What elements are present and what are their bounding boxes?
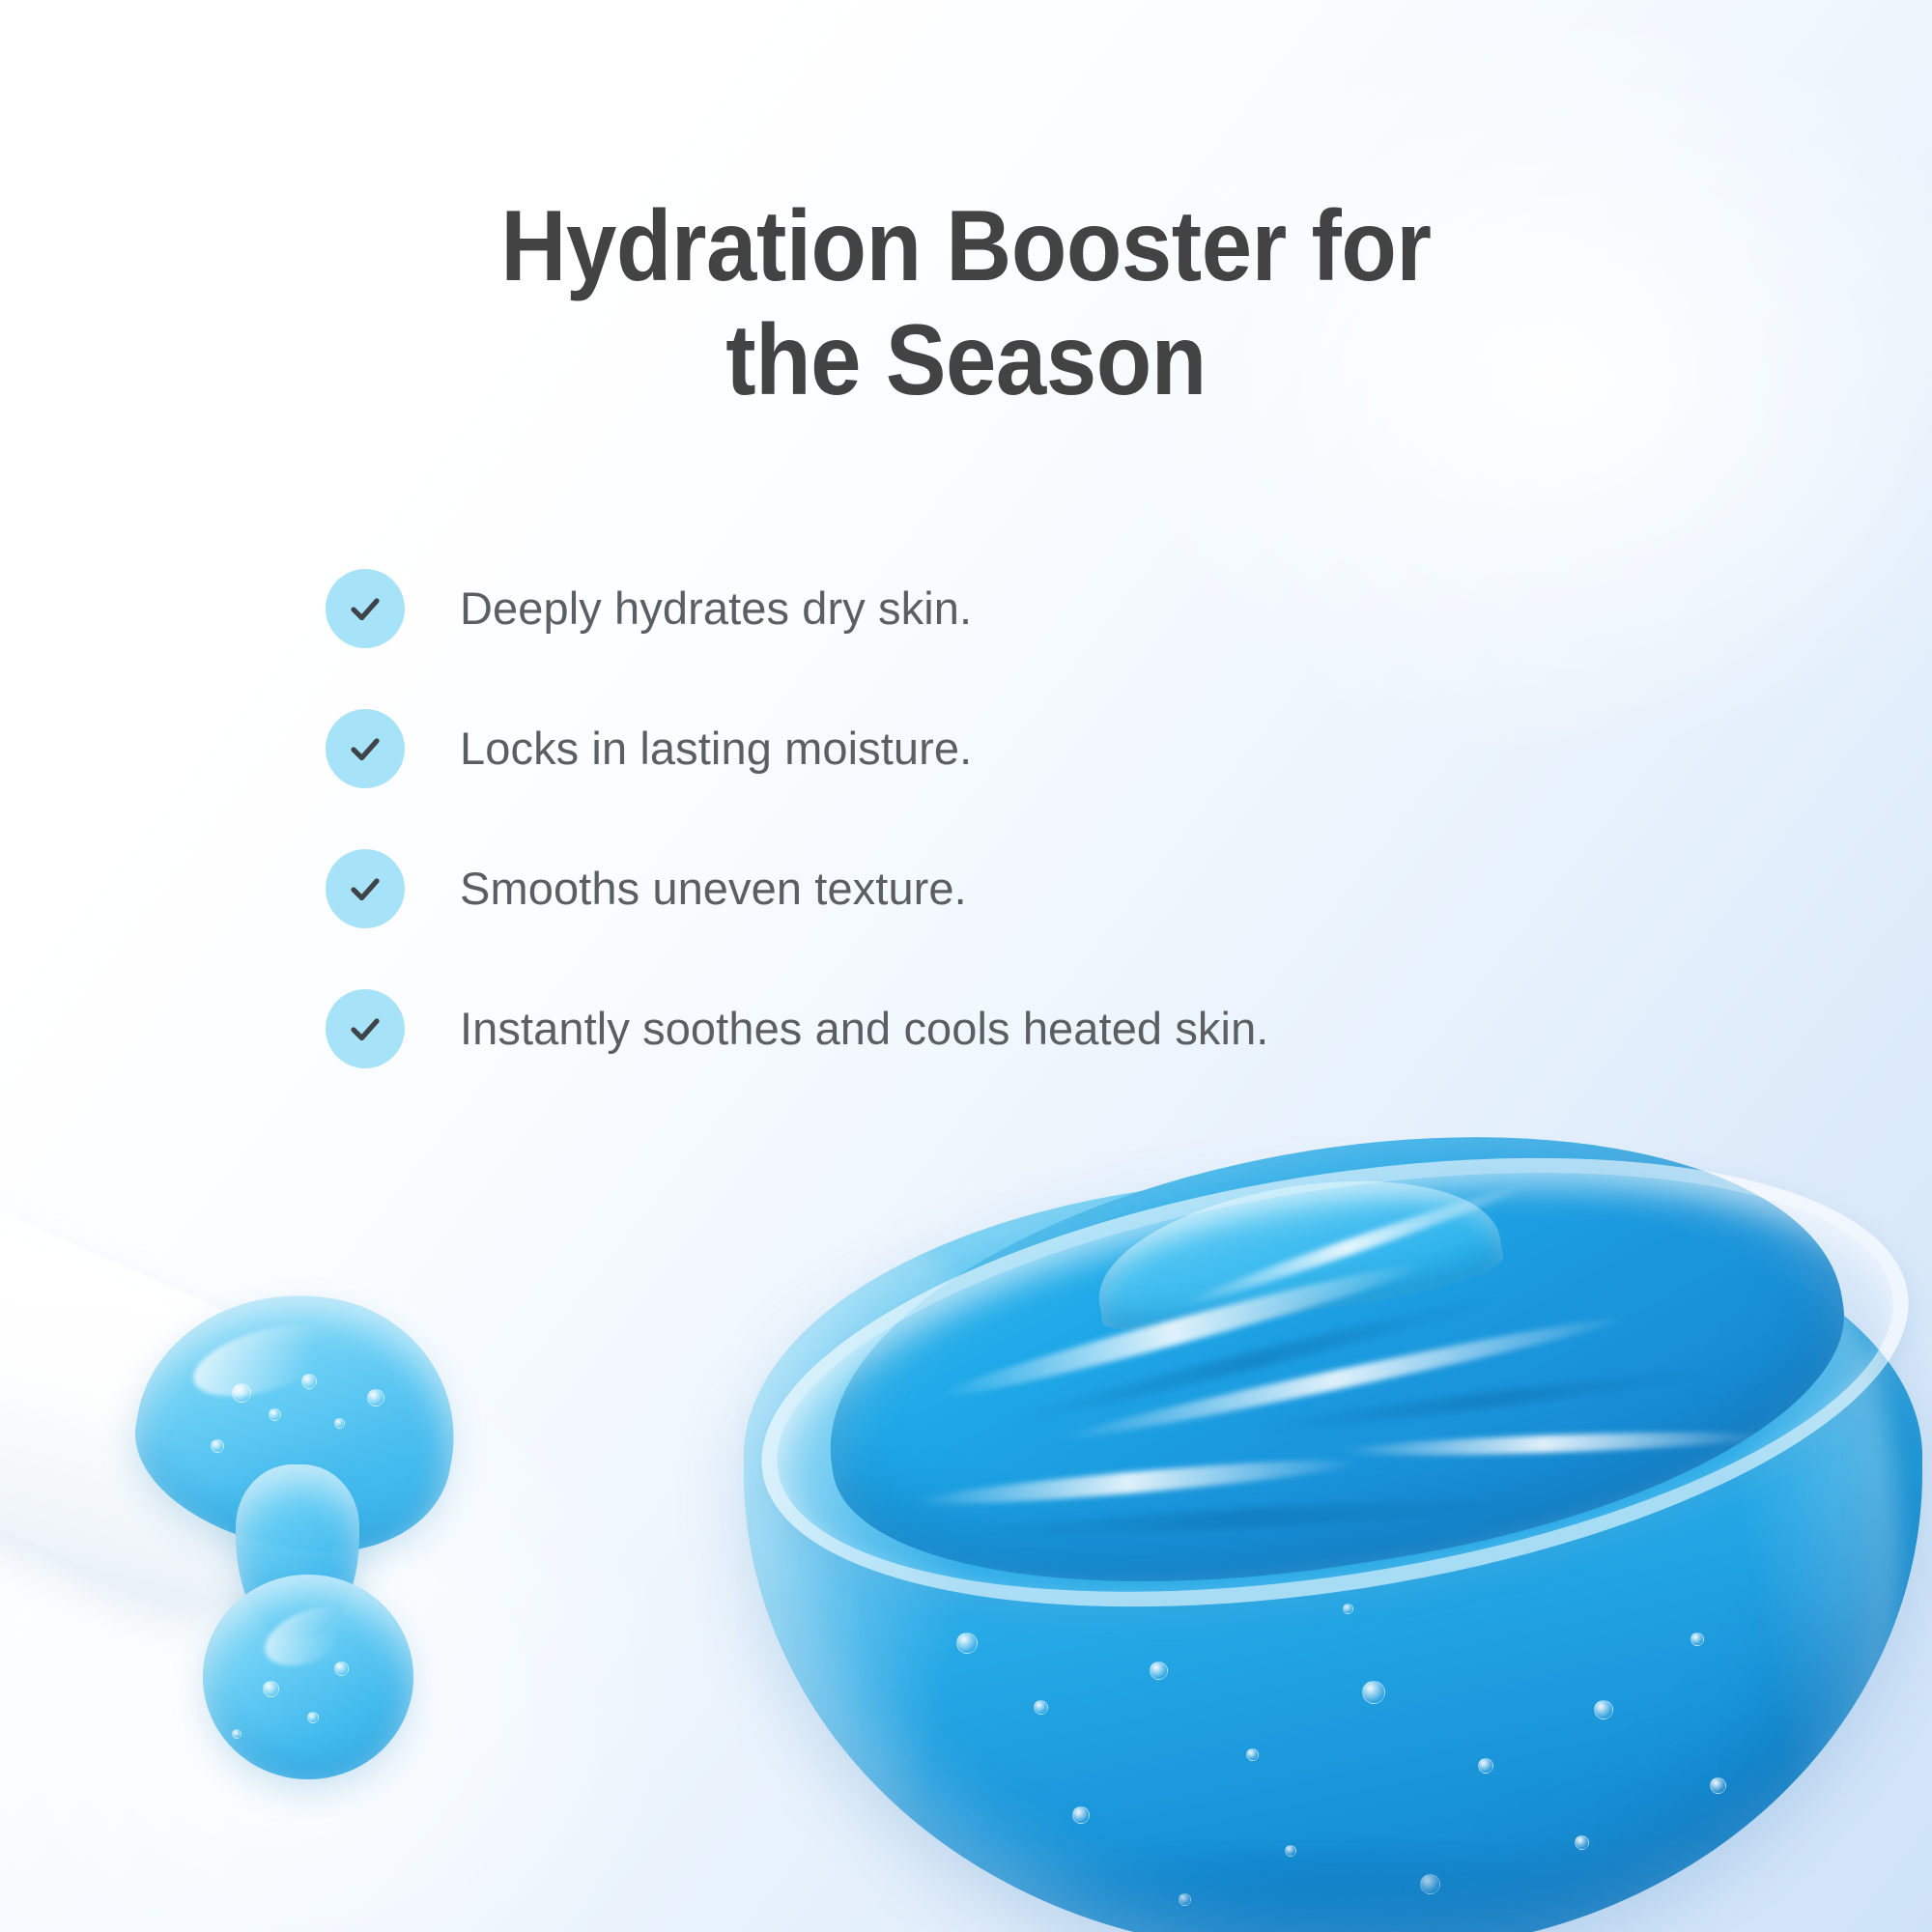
gel-bubble [269,1408,281,1421]
gel-drip-droplet [203,1575,413,1779]
list-item: Locks in lasting moisture. [326,708,1697,789]
benefit-label: Locks in lasting moisture. [460,722,972,776]
check-icon [326,849,405,928]
benefit-label: Deeply hydrates dry skin. [460,582,972,636]
gel-bubble [367,1389,384,1406]
gel-bubble [334,1418,345,1429]
check-icon [326,569,405,648]
glass-bowl-with-gel [744,1111,1932,1932]
list-item: Instantly soothes and cools heated skin. [326,988,1697,1069]
gel-bubble [211,1439,224,1453]
gel-bubble [1072,1806,1090,1824]
gel-bubble [1710,1777,1726,1794]
gel-bubble [1594,1700,1613,1719]
spatula-with-gel [0,1159,657,1835]
gel-bubble [1690,1633,1704,1646]
gel-bubble [1478,1758,1493,1774]
gel-bubble [263,1681,279,1697]
gel-bubble [1034,1700,1048,1715]
gel-bubble [301,1374,317,1389]
gel-bubble [307,1712,319,1723]
gel-bubble [334,1662,349,1676]
list-item: Smooths uneven texture. [326,848,1697,929]
check-icon [326,989,405,1068]
gel-bubble [1362,1681,1385,1704]
gel-bubble [1575,1835,1589,1850]
poster-canvas: Hydration Booster for the Season Deeply … [0,0,1932,1932]
benefit-label: Smooths uneven texture. [460,862,967,916]
benefits-list: Deeply hydrates dry skin. Locks in lasti… [326,568,1697,1128]
page-title: Hydration Booster for the Season [92,189,1840,417]
gel-bubble [956,1633,978,1654]
list-item: Deeply hydrates dry skin. [326,568,1697,649]
gel-bubble [1246,1748,1259,1761]
bowl-base-shadow [985,1851,1681,1932]
benefit-label: Instantly soothes and cools heated skin. [460,1002,1268,1056]
gel-bubble [1150,1662,1168,1680]
gel-bubble [232,1383,251,1403]
gel-bubble [232,1729,241,1739]
check-icon [326,709,405,788]
product-photo [0,1111,1932,1932]
gel-bubble [1343,1604,1353,1614]
